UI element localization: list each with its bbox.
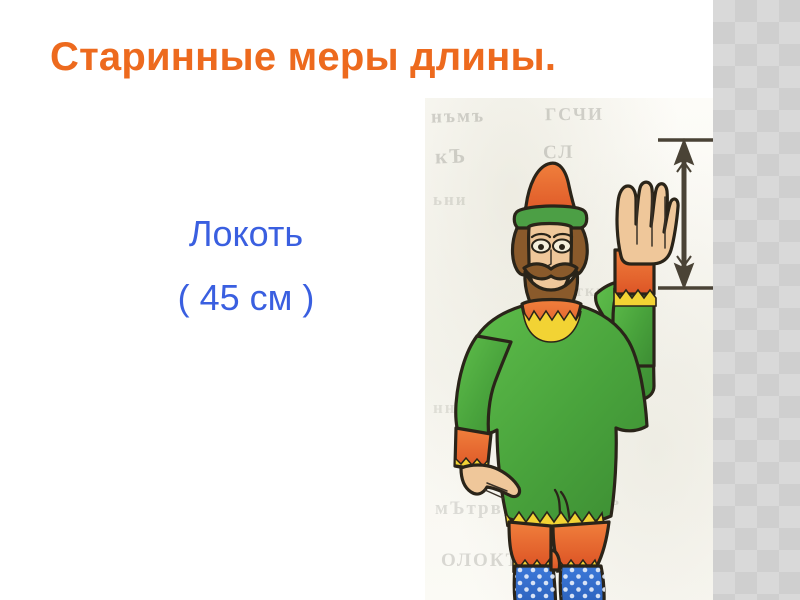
body-text-block: Локоть ( 45 см ) [96, 216, 396, 316]
measure-term-label: Локоть [96, 216, 396, 252]
page-title: Старинные меры длины. [50, 34, 690, 80]
illustration-region: нъмъ ГСЧИ кЪ СЛ ьни ткн дьне нкн ннъ мЪт… [425, 98, 713, 600]
transparency-checker-pane [713, 0, 800, 600]
slide-canvas: Старинные меры длины. Локоть ( 45 см ) н… [0, 0, 800, 600]
measure-value-label: ( 45 см ) [96, 280, 396, 316]
double-headed-measure-arrow [425, 98, 713, 600]
